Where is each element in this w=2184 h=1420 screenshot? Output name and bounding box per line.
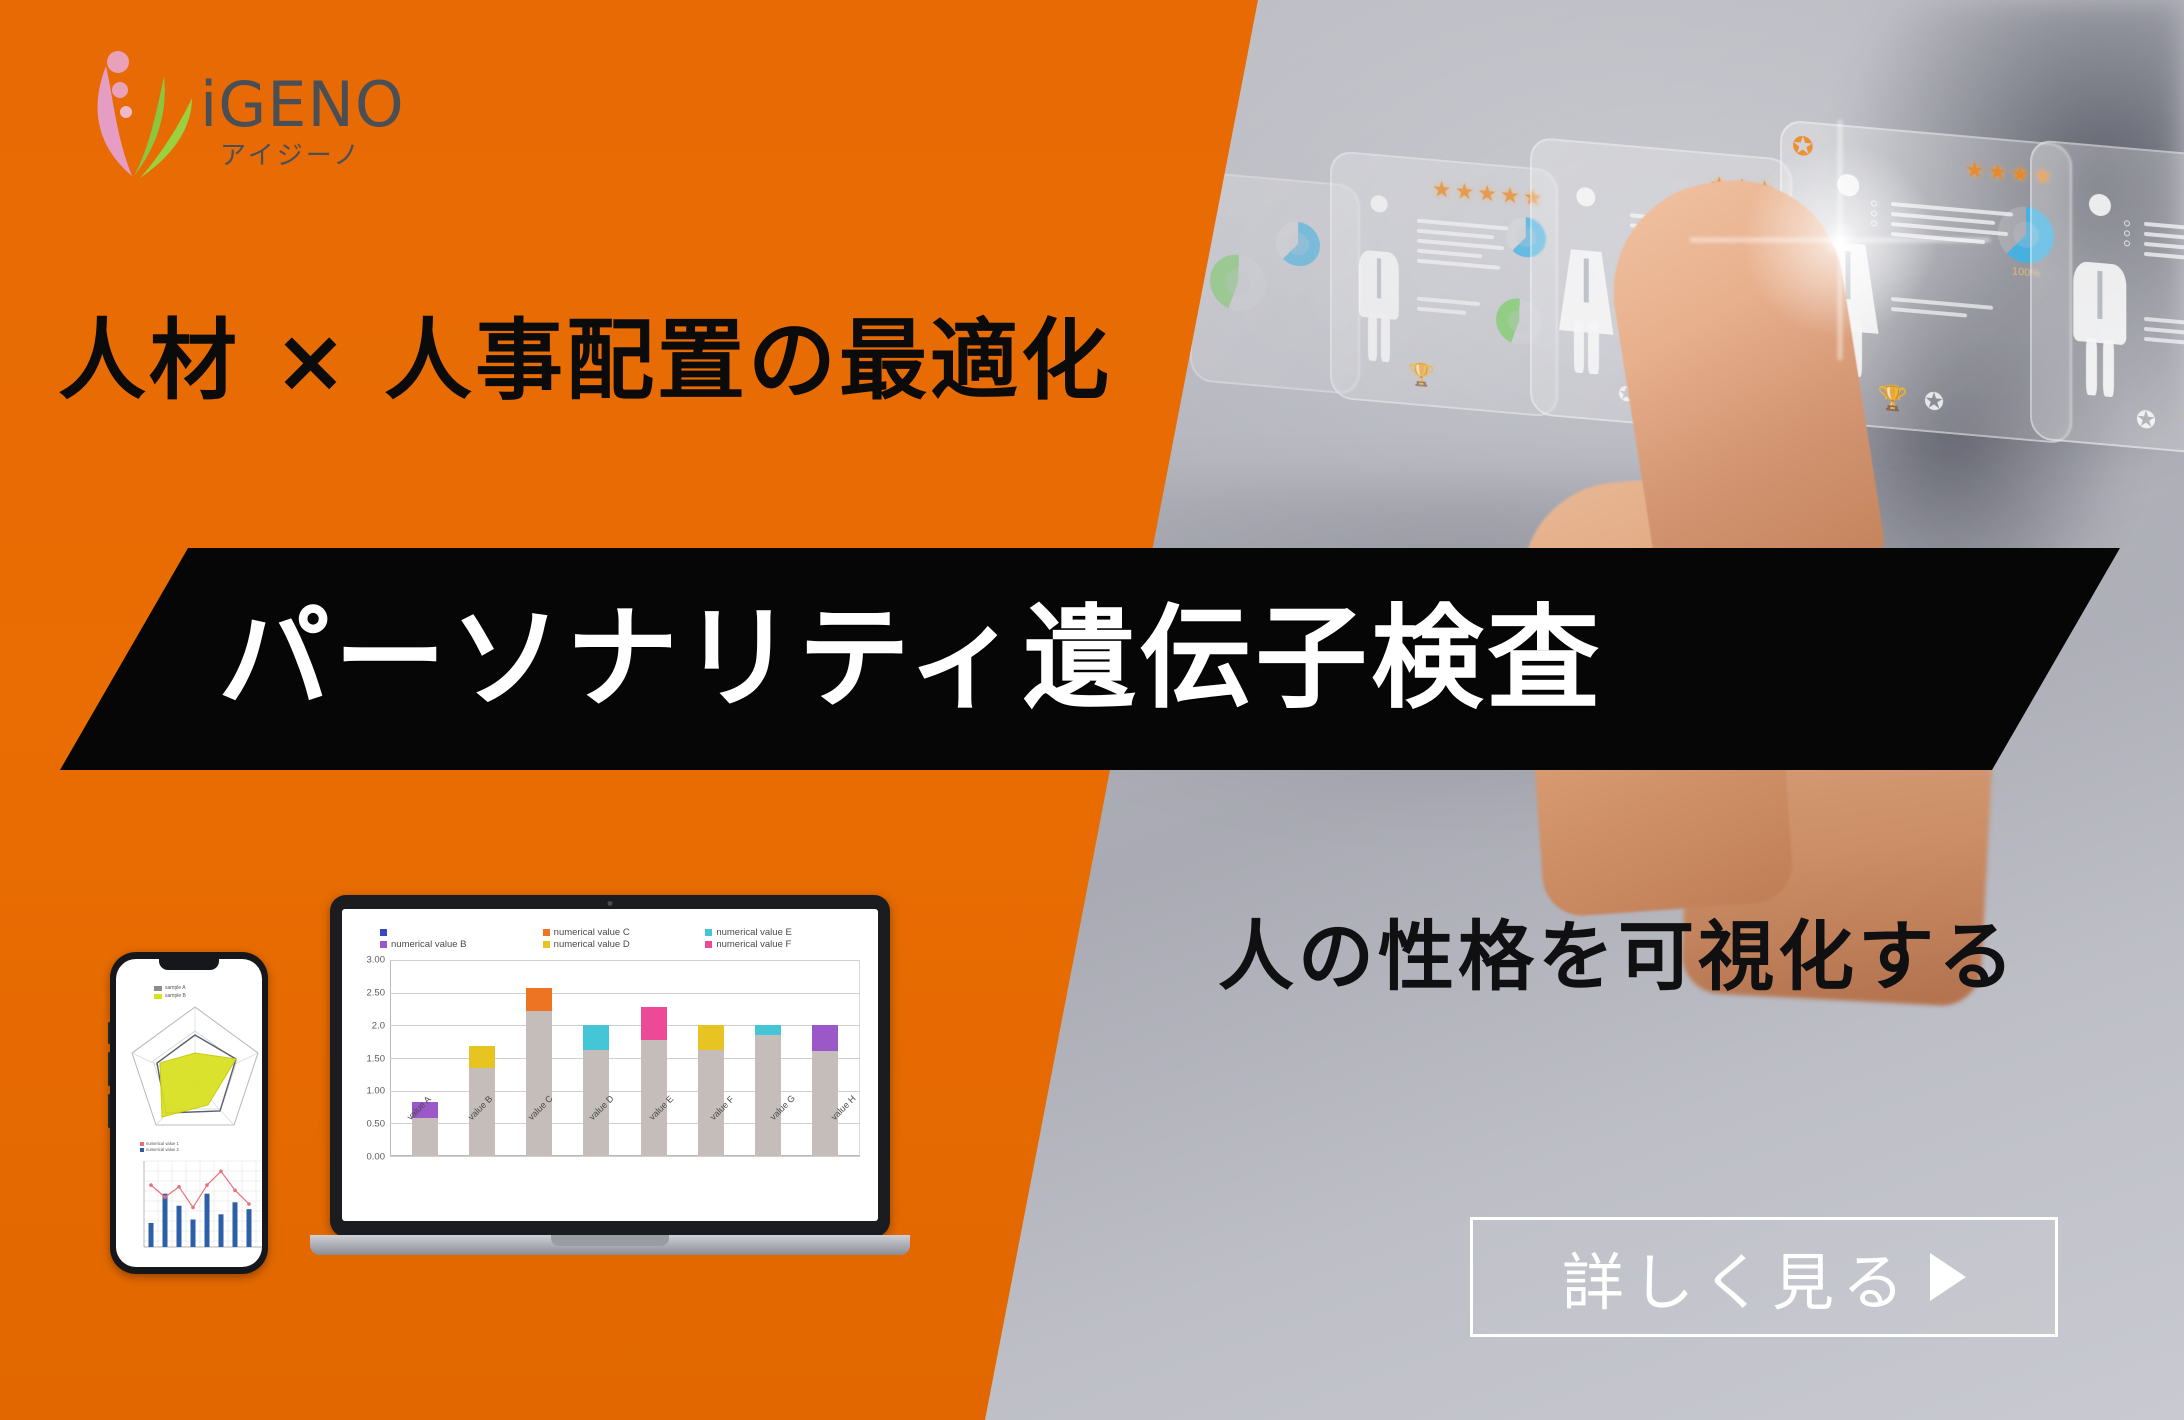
gauge-icon (1276, 220, 1320, 268)
page-headline: 人材 × 人事配置の最適化 (58, 290, 1112, 417)
holo-card-3: ★★★ ✪ (1530, 137, 1792, 438)
legend-swatch (380, 941, 387, 948)
combo-bar (177, 1206, 182, 1247)
chart-legend-item: numerical value F (705, 939, 862, 950)
chart-bar-segment-highlight (812, 1025, 838, 1051)
legend-swatch (543, 929, 550, 936)
banner-title: パーソナリティ遺伝子検査 (218, 603, 1603, 715)
logo-subtext: アイジーノ (220, 141, 362, 171)
laptop-camera-icon (608, 901, 613, 906)
chart-bar-segment-highlight (526, 988, 552, 1011)
chart-bar-segment-highlight (583, 1025, 609, 1050)
combo-line-point (247, 1202, 251, 1206)
card-text-lines (1630, 213, 1744, 263)
legend-label: sample A (165, 985, 186, 991)
combo-line-point (191, 1206, 195, 1210)
card-text-lines (2144, 222, 2184, 273)
legend-swatch (154, 994, 162, 999)
device-mockups: numerical value Cnumerical value Enumeri… (110, 900, 940, 1360)
person-female-icon (1558, 185, 1615, 376)
card-text-lines (1417, 218, 1516, 277)
legend-label: numerical value F (716, 939, 791, 950)
legend-swatch (140, 1148, 144, 1152)
radar-legend-item: sample A (154, 985, 186, 991)
chart-bar-segment-highlight (641, 1007, 667, 1040)
play-triangle-icon (1930, 1253, 1966, 1301)
chart-x-axis-labels: value Avalue Bvalue Cvalue Dvalue Evalue… (388, 1115, 872, 1175)
y-axis-tick: 3.00 (367, 955, 386, 966)
combo-chart-legend: numerical value 1numerical value 2 (140, 1141, 179, 1153)
y-axis-tick: 2.50 (367, 987, 386, 998)
igeno-logo[interactable]: iGENO アイジーノ (52, 24, 432, 204)
laptop-lid: numerical value Cnumerical value Enumeri… (330, 895, 890, 1237)
verified-check-icon: ✪ (1792, 130, 1814, 163)
phone-body: sample Asample B (110, 952, 268, 1274)
bullet-dots (1871, 200, 1877, 231)
radar-legend-item: sample B (154, 993, 186, 999)
combo-line-point (233, 1188, 237, 1192)
legend-label: numerical value D (554, 939, 630, 950)
chart-legend-item: numerical value B (380, 939, 537, 950)
legend-swatch (705, 941, 712, 948)
combo-chart: numerical value 1numerical value 2 (122, 1141, 262, 1267)
stacked-bar-chart: numerical value Cnumerical value Enumeri… (342, 909, 878, 1221)
legend-swatch (140, 1142, 144, 1146)
combo-line-point (177, 1185, 181, 1189)
combo-bar (233, 1202, 238, 1247)
legend-swatch (543, 941, 550, 948)
holographic-cards: ★★★★★ 🏆 (1230, 60, 2184, 460)
card-text-lines (1630, 301, 1733, 340)
phone-screen: sample Asample B (116, 959, 262, 1267)
legend-label: numerical value E (716, 927, 792, 938)
card-text-lines (1891, 297, 2006, 327)
gauge-icon (1722, 305, 1772, 359)
legend-swatch (705, 929, 712, 936)
chart-legend-item: numerical value D (543, 939, 700, 950)
logo-wordmark: iGENO (200, 68, 405, 141)
star-rating: ★★★★★ (1432, 178, 1543, 210)
combo-line-point (149, 1183, 153, 1187)
chart-legend-item: numerical value C (543, 927, 700, 938)
combo-bar (247, 1209, 252, 1247)
chart-bar-segment-highlight (469, 1046, 495, 1068)
combo-bar (219, 1214, 224, 1247)
leaf-sprout-icon (98, 51, 192, 178)
chart-bar-segment-highlight (698, 1025, 724, 1050)
bullet-dots (2124, 220, 2130, 251)
combo-bar (191, 1219, 196, 1247)
legend-label: numerical value 2 (146, 1147, 179, 1152)
combo-bar (205, 1194, 210, 1247)
person-male-icon (1354, 193, 1403, 363)
phone-mockup: sample Asample B (110, 952, 268, 1274)
chart-bar-segment-highlight (755, 1025, 781, 1035)
legend-swatch (154, 986, 162, 991)
trophy-icon: 🏆 (1878, 383, 1908, 415)
radar-chart: sample Asample B (124, 985, 262, 1135)
laptop-mockup: numerical value Cnumerical value Enumeri… (310, 895, 910, 1295)
y-axis-tick: 0.50 (367, 1119, 386, 1130)
trophy-icon: 🏆 (1408, 361, 1435, 389)
banner-subtitle: 人の性格を可視化する (1218, 895, 2018, 1005)
details-button[interactable]: 詳しく見る (1470, 1217, 2058, 1337)
combo-line-point (205, 1183, 209, 1187)
laptop-screen: numerical value Cnumerical value Enumeri… (342, 909, 878, 1221)
card-text-lines (2144, 317, 2184, 357)
holo-card-5: ★★★★ 63% ✪ 🏆 (2030, 139, 2184, 465)
y-axis-tick: 0.00 (367, 1152, 386, 1163)
combo-legend-item: numerical value 2 (140, 1147, 179, 1152)
title-banner: パーソナリティ遺伝子検査 (60, 548, 2120, 770)
holo-card-4: ✪ ★★★★ 100% (1780, 119, 2072, 445)
legend-label: sample B (165, 993, 186, 999)
star-rating: ★★★ (1709, 173, 1774, 201)
legend-label: numerical value C (554, 927, 630, 938)
award-ribbon-icon: ✪ (1924, 387, 1944, 418)
promotional-banner: ★★★★★ 🏆 (0, 0, 2184, 1420)
y-axis-tick: 1.00 (367, 1086, 386, 1097)
chart-legend: numerical value Cnumerical value Enumeri… (350, 919, 866, 954)
phone-notch (159, 959, 219, 970)
verified-check-icon: ✪ (1618, 381, 1635, 407)
award-ribbon-icon: ✪ (2136, 405, 2156, 436)
y-axis-tick: 2.0 (372, 1020, 385, 1031)
holo-card-2: ★★★★★ 🏆 (1330, 150, 1558, 418)
radar-chart-legend: sample Asample B (154, 985, 186, 1001)
y-axis-tick: 1.50 (367, 1053, 386, 1064)
laptop-notch (551, 1235, 669, 1246)
chart-legend-item (380, 927, 537, 938)
combo-line-point (163, 1195, 167, 1199)
combo-bar (163, 1194, 168, 1247)
details-button-label: 詳しく見る (1562, 1232, 1912, 1322)
combo-legend-item: numerical value 1 (140, 1141, 179, 1146)
chart-legend-item: numerical value E (705, 927, 862, 938)
gauge-icon (1210, 252, 1266, 313)
card-text-lines (1417, 296, 1507, 324)
combo-bar (149, 1223, 154, 1247)
legend-swatch (380, 929, 387, 936)
combo-line-point (219, 1170, 223, 1174)
legend-label: numerical value B (391, 939, 467, 950)
legend-label: numerical value 1 (146, 1141, 179, 1146)
